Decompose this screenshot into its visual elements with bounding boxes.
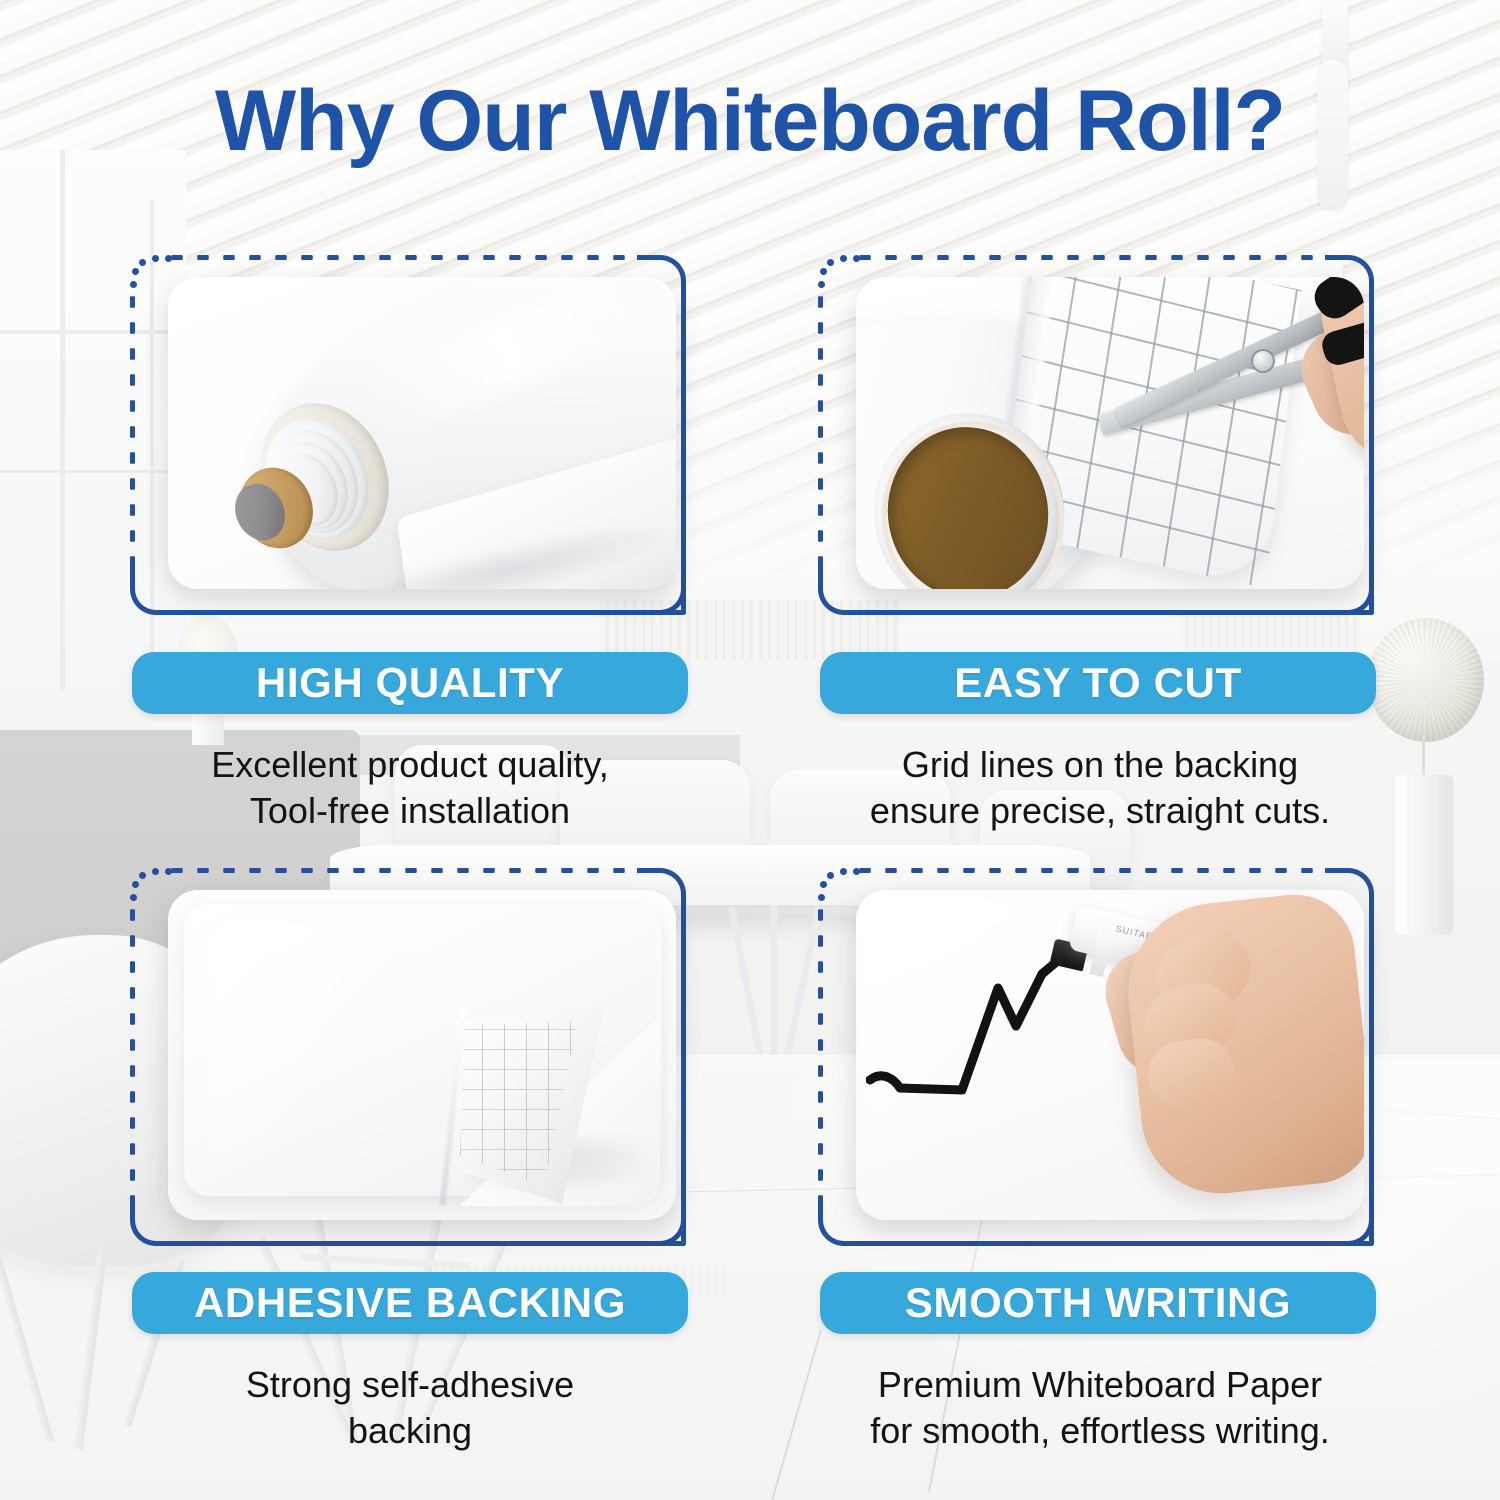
feature-label-text: HIGH QUALITY [256, 659, 564, 707]
frame-edge-left [818, 902, 823, 1202]
title-part-bold: Whiteboard Roll? [589, 73, 1285, 169]
feature-photo-high-quality [168, 277, 676, 589]
page-title: Why Our Whiteboard Roll? [0, 78, 1500, 164]
feature-label-easy-to-cut: EASY TO CUT [820, 652, 1376, 714]
feature-photo-easy-to-cut: deli [856, 277, 1364, 589]
frame-edge-right [681, 289, 686, 615]
frame-edge-top [852, 255, 1330, 260]
feature-caption-easy-to-cut: Grid lines on the backing ensure precise… [810, 742, 1390, 834]
feature-label-high-quality: HIGH QUALITY [132, 652, 688, 714]
feature-label-text: SMOOTH WRITING [905, 1279, 1291, 1327]
frame-edge-left [818, 289, 823, 571]
feature-label-adhesive-backing: ADHESIVE BACKING [132, 1272, 688, 1334]
frame-edge-bottom [852, 1241, 1374, 1246]
frame-edge-left [130, 902, 135, 1202]
frame-edge-right [1369, 289, 1374, 615]
feature-caption-smooth-writing: Premium Whiteboard Paper for smooth, eff… [810, 1362, 1390, 1454]
infographic-root: Why Our Whiteboard Roll? [0, 0, 1500, 1500]
title-part-light: Why Our [215, 73, 589, 169]
feature-caption-high-quality: Excellent product quality, Tool-free ins… [120, 742, 700, 834]
feature-photo-smooth-writing: SUITABLE FOR USE ON ALL TYPES OF WHITEBO… [856, 890, 1364, 1220]
frame-edge-right [1369, 902, 1374, 1246]
frame-edge-bottom [164, 610, 686, 615]
feature-card-adhesive-backing [130, 868, 686, 1246]
feature-label-text: EASY TO CUT [954, 659, 1241, 707]
feature-photo-adhesive-backing [168, 890, 676, 1220]
feature-caption-adhesive-backing: Strong self-adhesive backing [120, 1362, 700, 1454]
feature-card-easy-to-cut: deli [818, 255, 1374, 615]
feature-card-high-quality [130, 255, 686, 615]
frame-edge-top [164, 868, 642, 873]
feature-label-smooth-writing: SMOOTH WRITING [820, 1272, 1376, 1334]
feature-card-smooth-writing: SUITABLE FOR USE ON ALL TYPES OF WHITEBO… [818, 868, 1374, 1246]
feature-label-text: ADHESIVE BACKING [194, 1279, 626, 1327]
frame-edge-top [852, 868, 1330, 873]
frame-edge-bottom [164, 1241, 686, 1246]
frame-edge-top [164, 255, 642, 260]
frame-edge-right [681, 902, 686, 1246]
frame-edge-left [130, 289, 135, 571]
frame-edge-bottom [852, 610, 1374, 615]
